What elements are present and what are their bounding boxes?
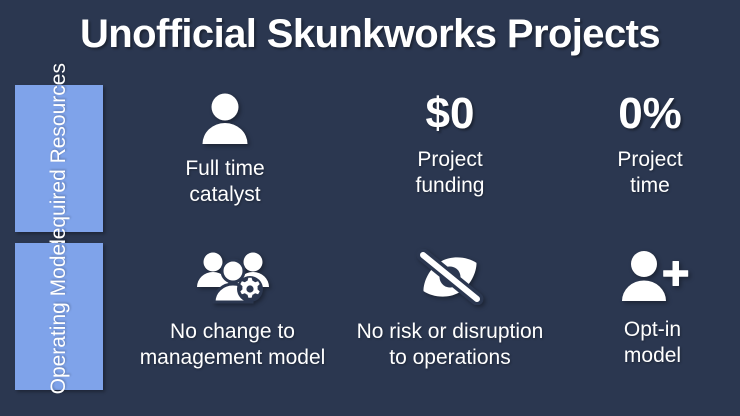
- cell-project-funding: $0 Project funding: [355, 92, 545, 198]
- row-label-text: Operating Model: [47, 239, 71, 394]
- cell-caption: Project time: [560, 147, 740, 198]
- cell-full-time-catalyst: Full time catalyst: [130, 92, 320, 207]
- page-title: Unofficial Skunkworks Projects: [0, 12, 740, 57]
- people-gear-icon: [130, 247, 335, 305]
- cell-caption: No change to management model: [130, 319, 335, 370]
- time-value: 0%: [560, 92, 740, 136]
- slide-canvas: Unofficial Skunkworks Projects Required …: [0, 0, 740, 416]
- cell-no-risk-disruption: No risk or disruption to operations: [340, 247, 560, 370]
- person-icon: [130, 92, 320, 148]
- person-add-icon: [565, 247, 740, 305]
- eye-off-icon: [340, 247, 560, 305]
- cell-caption: No risk or disruption to operations: [340, 319, 560, 370]
- cell-project-time: 0% Project time: [560, 92, 740, 198]
- funding-value: $0: [355, 92, 545, 136]
- row-label-operating-model: Operating Model: [15, 243, 103, 390]
- cell-no-change-management: No change to management model: [130, 247, 335, 370]
- cell-caption: Project funding: [355, 147, 545, 198]
- row-label-text: Required Resources: [47, 63, 71, 254]
- cell-caption: Full time catalyst: [130, 156, 320, 207]
- cell-opt-in-model: Opt-in model: [565, 247, 740, 368]
- cell-caption: Opt-in model: [565, 317, 740, 368]
- row-label-required-resources: Required Resources: [15, 85, 103, 232]
